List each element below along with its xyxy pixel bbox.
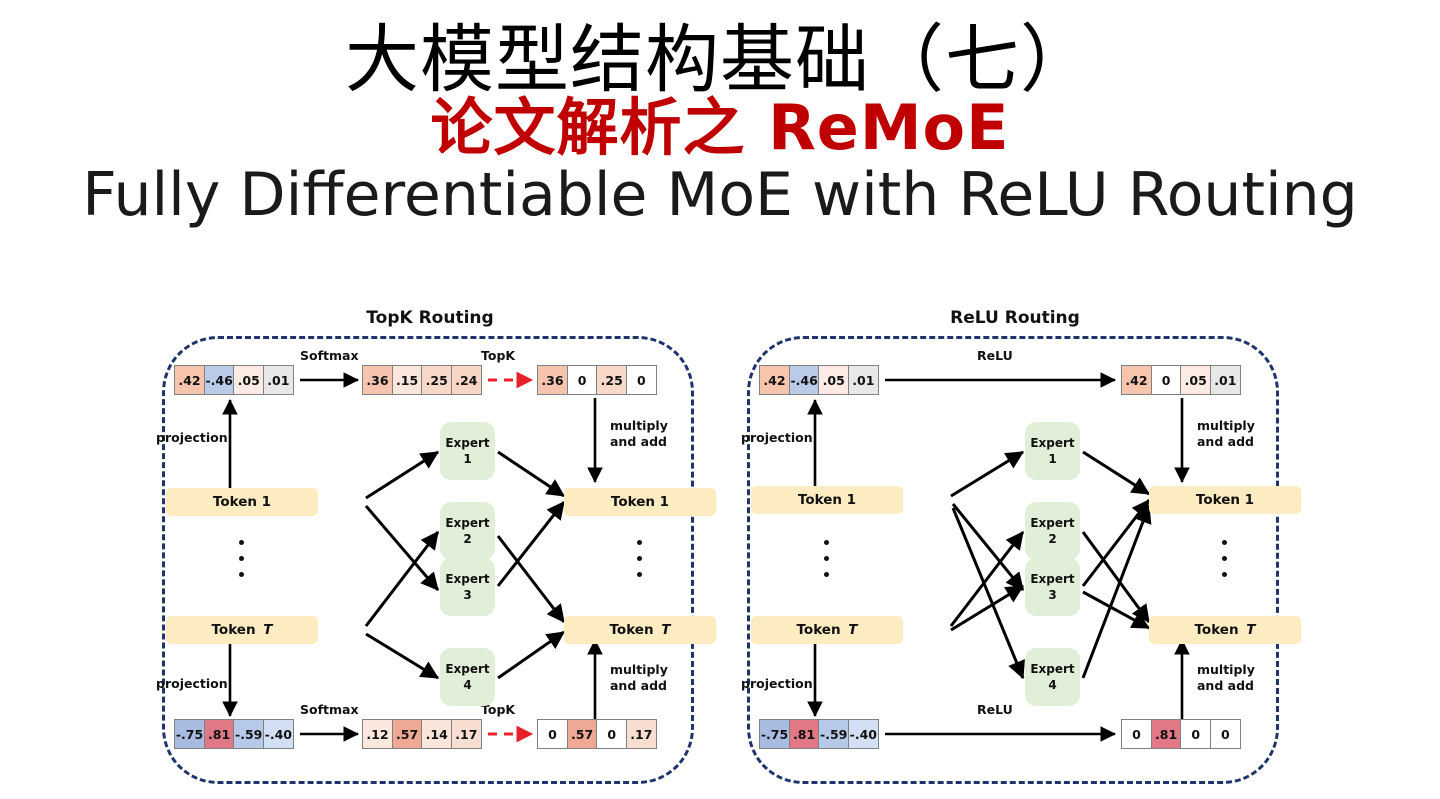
- label-softmax-top: Softmax: [300, 348, 359, 364]
- label-projection-bottom: projection: [741, 676, 813, 692]
- expert-box-4: Expert4: [440, 648, 495, 706]
- panel-title-relu: ReLU Routing: [725, 308, 1305, 328]
- vector-bottom-relu-output: 0 .81 0 0: [1121, 719, 1241, 749]
- vector-top-topk-output: .36 0 .25 0: [537, 365, 657, 395]
- vector-cell: .05: [818, 365, 849, 395]
- vector-cell: 0: [567, 365, 598, 395]
- panel-topk-routing: TopK Routing: [140, 300, 720, 799]
- vector-bottom-softmax-topk: .12 .57 .14 .17: [362, 719, 482, 749]
- vector-cell: .15: [392, 365, 423, 395]
- vector-top-logits-relu: .42 -.46 .05 .01: [759, 365, 879, 395]
- vector-cell: .57: [392, 719, 423, 749]
- vector-bottom-logits-topk: -.75 .81 -.59 -.40: [174, 719, 294, 749]
- panel-title-topk: TopK Routing: [140, 308, 720, 328]
- vector-cell: -.46: [204, 365, 235, 395]
- vector-top-logits-topk: .42 -.46 .05 .01: [174, 365, 294, 395]
- vector-cell: .24: [451, 365, 482, 395]
- vector-cell: -.59: [233, 719, 264, 749]
- label-topk-top: TopK: [481, 348, 515, 364]
- vector-cell: .05: [233, 365, 264, 395]
- vector-cell: .42: [174, 365, 205, 395]
- vector-cell: .81: [204, 719, 235, 749]
- vector-bottom-topk-output: 0 .57 0 .17: [537, 719, 657, 749]
- vector-cell: 0: [1151, 365, 1182, 395]
- vector-cell: .17: [451, 719, 482, 749]
- expert-box-2: Expert2: [1025, 502, 1080, 560]
- vector-cell: -.40: [848, 719, 879, 749]
- vector-cell: .25: [596, 365, 627, 395]
- vector-cell: .01: [1210, 365, 1241, 395]
- title-block: 大模型结构基础（七） 论文解析之 ReMoE Fully Differentia…: [0, 0, 1440, 296]
- vector-cell: .12: [362, 719, 393, 749]
- vector-cell: .36: [362, 365, 393, 395]
- label-projection-top: projection: [741, 430, 813, 446]
- label-multiply-add-top: multiplyand add: [610, 418, 668, 450]
- vector-cell: .42: [1121, 365, 1152, 395]
- vector-cell: 0: [1210, 719, 1241, 749]
- vector-cell: -.46: [789, 365, 820, 395]
- token-in-T: Token T: [166, 616, 318, 644]
- ellipsis-in: [239, 540, 244, 577]
- vector-cell: -.75: [174, 719, 205, 749]
- vector-cell: .14: [421, 719, 452, 749]
- vector-cell: .81: [1151, 719, 1182, 749]
- vector-top-relu-output: .42 0 .05 .01: [1121, 365, 1241, 395]
- label-relu-bottom: ReLU: [977, 702, 1013, 718]
- label-projection-top: projection: [156, 430, 228, 446]
- vector-cell: 0: [1180, 719, 1211, 749]
- vector-cell: .01: [263, 365, 294, 395]
- panel-relu-routing: ReLU Routing: [725, 300, 1305, 799]
- figure-moe-routing-comparison: TopK Routing: [0, 300, 1440, 799]
- vector-cell: 0: [1121, 719, 1152, 749]
- vector-cell: .17: [626, 719, 657, 749]
- vector-top-softmax-topk: .36 .15 .25 .24: [362, 365, 482, 395]
- expert-box-1: Expert1: [440, 422, 495, 480]
- expert-box-3: Expert3: [440, 558, 495, 616]
- vector-cell: 0: [596, 719, 627, 749]
- vector-cell: -.59: [818, 719, 849, 749]
- label-multiply-add-bottom: multiplyand add: [610, 662, 668, 694]
- expert-box-2: Expert2: [440, 502, 495, 560]
- ellipsis-out: [1222, 540, 1227, 577]
- token-out-T: Token T: [1149, 616, 1301, 644]
- title-line-chinese: 大模型结构基础（七）: [0, 22, 1440, 99]
- vector-cell: .42: [759, 365, 790, 395]
- vector-cell: .25: [421, 365, 452, 395]
- expert-box-1: Expert1: [1025, 422, 1080, 480]
- vector-cell: 0: [537, 719, 568, 749]
- expert-box-4: Expert4: [1025, 648, 1080, 706]
- vector-cell: -.75: [759, 719, 790, 749]
- label-multiply-add-bottom: multiplyand add: [1197, 662, 1255, 694]
- vector-cell: .36: [537, 365, 568, 395]
- token-in-1: Token 1: [166, 488, 318, 516]
- ellipsis-in: [824, 540, 829, 577]
- vector-cell: .01: [848, 365, 879, 395]
- vector-cell: .05: [1180, 365, 1211, 395]
- vector-cell: -.40: [263, 719, 294, 749]
- token-out-1: Token 1: [1149, 486, 1301, 514]
- token-out-1: Token 1: [564, 488, 716, 516]
- expert-box-3: Expert3: [1025, 558, 1080, 616]
- label-projection-bottom: projection: [156, 676, 228, 692]
- title-line-english-subtitle: Fully Differentiable MoE with ReLU Routi…: [0, 162, 1440, 228]
- token-out-T: Token T: [564, 616, 716, 644]
- vector-cell: .57: [567, 719, 598, 749]
- title-line-paper-analysis: 论文解析之 ReMoE: [0, 95, 1440, 160]
- ellipsis-out: [637, 540, 642, 577]
- label-relu-top: ReLU: [977, 348, 1013, 364]
- token-in-T: Token T: [751, 616, 903, 644]
- label-softmax-bottom: Softmax: [300, 702, 359, 718]
- vector-cell: 0: [626, 365, 657, 395]
- token-in-1: Token 1: [751, 486, 903, 514]
- vector-cell: .81: [789, 719, 820, 749]
- label-multiply-add-top: multiplyand add: [1197, 418, 1255, 450]
- vector-bottom-logits-relu: -.75 .81 -.59 -.40: [759, 719, 879, 749]
